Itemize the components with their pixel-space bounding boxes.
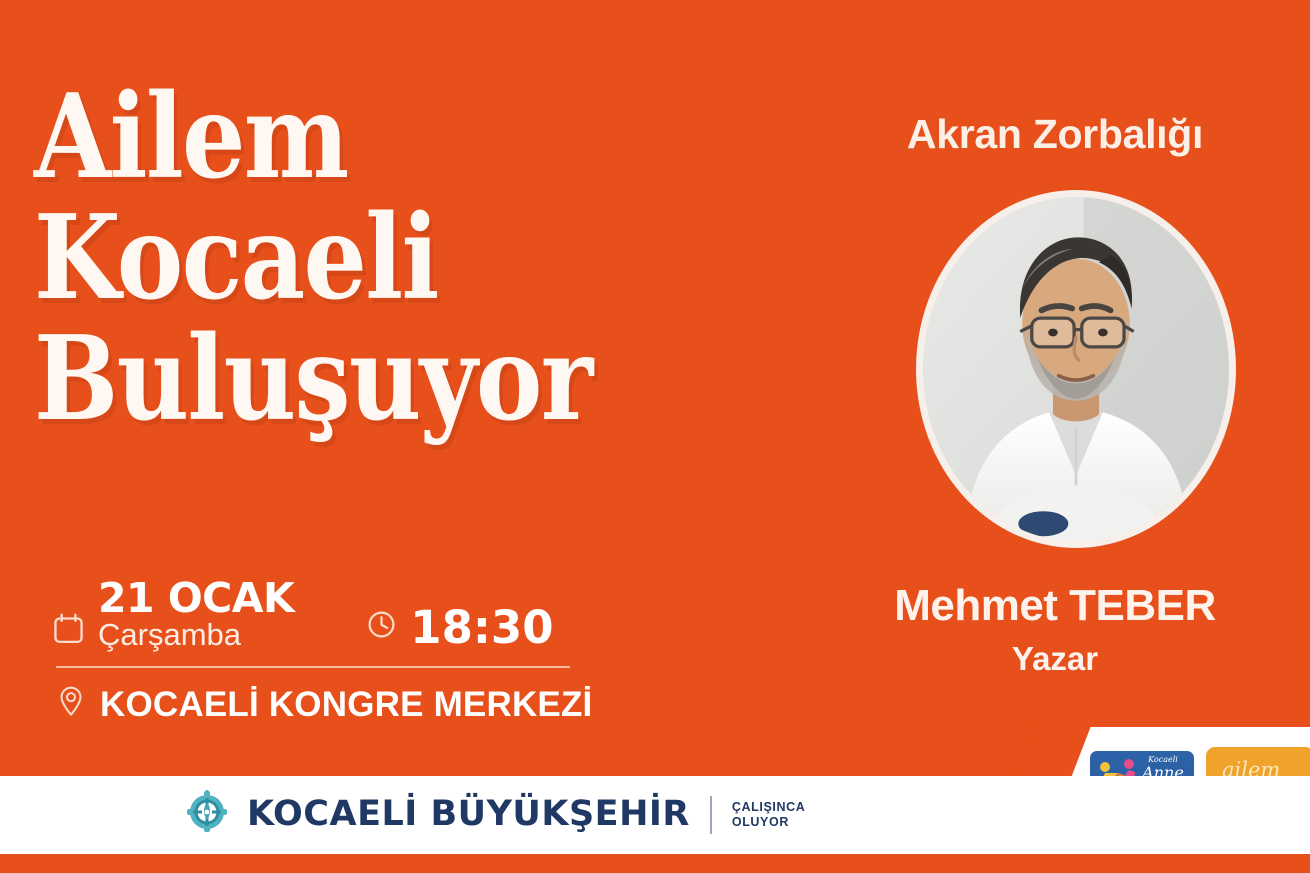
event-details: 21 OCAK Çarşamba 18:30: [52, 578, 692, 724]
kocaeli-emblem-icon: [183, 788, 231, 841]
date-time-row: 21 OCAK Çarşamba 18:30: [52, 578, 692, 652]
date-day: 21 OCAK: [98, 574, 294, 622]
venue-name: KOCAELİ KONGRE MERKEZİ: [100, 687, 592, 722]
headline-line-1: Ailem: [34, 80, 688, 195]
speaker-portrait: [916, 190, 1236, 548]
event-poster: Ailem Kocaeli Buluşuyor 21 OCAK Çarşamba: [0, 0, 1310, 873]
logo-separator: [710, 796, 712, 834]
clock-icon: [366, 609, 397, 645]
venue-row: KOCAELİ KONGRE MERKEZİ: [56, 685, 692, 724]
location-pin-icon: [56, 685, 86, 724]
municipality-logo: KOCAELİ BÜYÜKŞEHİR ÇALIŞINCA OLUYOR: [183, 788, 805, 841]
calendar-icon: [52, 612, 85, 652]
date-block: 21 OCAK Çarşamba: [52, 578, 294, 652]
headline-line-3: Buluşuyor: [34, 322, 688, 437]
speaker-role: Yazar: [820, 642, 1290, 677]
tagline-line-1: ÇALIŞINCA: [732, 800, 805, 814]
municipality-name: KOCAELİ BÜYÜKŞEHİR: [247, 797, 690, 832]
date-weekday: Çarşamba: [98, 617, 241, 652]
talk-topic: Akran Zorbalığı: [820, 112, 1290, 157]
footer-accent-strip: [0, 854, 1310, 873]
time-block: 18:30: [366, 605, 553, 652]
municipality-tagline: ÇALIŞINCA OLUYOR: [732, 800, 805, 830]
poster-headline: Ailem Kocaeli Buluşuyor: [34, 80, 794, 436]
details-divider: [56, 666, 570, 668]
event-time: 18:30: [410, 605, 553, 650]
speaker-name: Mehmet TEBER: [820, 583, 1290, 629]
tagline-line-2: OLUYOR: [732, 815, 789, 829]
date-text: 21 OCAK Çarşamba: [98, 578, 294, 652]
headline-line-2: Kocaeli: [34, 201, 688, 316]
